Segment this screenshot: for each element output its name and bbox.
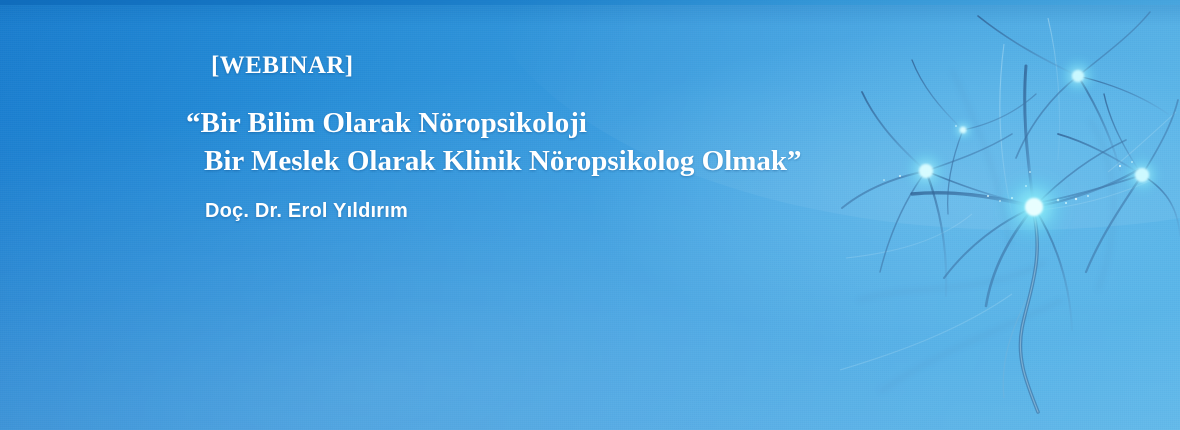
- webinar-kicker-label: [WEBINAR]: [211, 52, 354, 80]
- webinar-speaker-name: Doç. Dr. Erol Yıldırım: [205, 200, 408, 223]
- banner-text-block: [WEBINAR] “Bir Bilim Olarak Nöropsikoloj…: [0, 0, 1180, 430]
- webinar-banner: [WEBINAR] “Bir Bilim Olarak Nöropsikoloj…: [0, 0, 1180, 430]
- webinar-title-line-1: “Bir Bilim Olarak Nöropsikoloji: [186, 107, 587, 140]
- webinar-title-line-2: Bir Meslek Olarak Klinik Nöropsikolog Ol…: [204, 145, 802, 178]
